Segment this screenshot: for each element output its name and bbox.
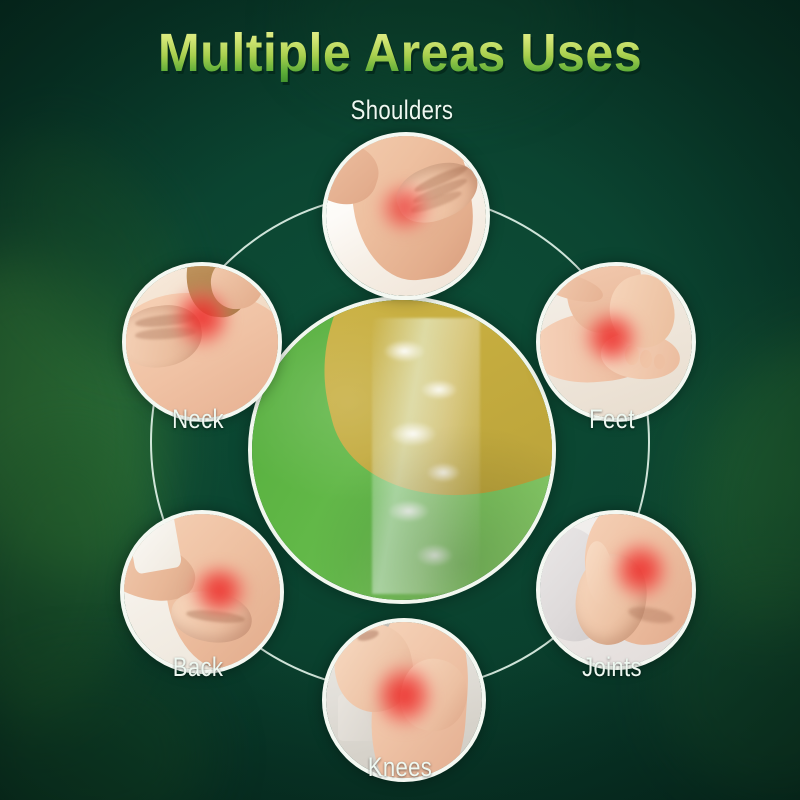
pain-glow-joints xyxy=(613,541,668,599)
area-label-neck: Neck xyxy=(136,404,261,435)
toe xyxy=(654,354,665,369)
pain-glow-knees xyxy=(376,663,432,729)
photo-back xyxy=(124,514,280,670)
area-label-shoulders: Shoulders xyxy=(336,95,467,126)
page-title: Multiple Areas Uses xyxy=(28,22,772,84)
area-circle-back[interactable] xyxy=(120,510,284,674)
photo-joints xyxy=(540,514,692,666)
gloss-sheen-layer xyxy=(252,300,552,600)
photo-neck xyxy=(126,266,278,418)
photo-feet xyxy=(540,266,692,418)
area-circle-joints[interactable] xyxy=(536,510,696,670)
photo-shoulders xyxy=(326,136,486,296)
pain-glow-shoulders xyxy=(377,184,431,232)
poster-canvas: Multiple Areas Uses Shoulders xyxy=(0,0,800,800)
area-circle-shoulders[interactable] xyxy=(322,132,490,300)
area-label-knees: Knees xyxy=(336,752,464,783)
garment-shape xyxy=(125,514,182,574)
product-center-circle xyxy=(248,296,556,604)
pain-glow-feet xyxy=(583,312,641,364)
area-label-back: Back xyxy=(134,652,262,683)
area-label-feet: Feet xyxy=(540,404,684,435)
area-label-joints: Joints xyxy=(540,652,684,683)
area-circle-feet[interactable] xyxy=(536,262,696,422)
pain-glow-back xyxy=(190,567,249,614)
pain-glow-neck xyxy=(175,287,230,348)
area-circle-neck[interactable] xyxy=(122,262,282,422)
